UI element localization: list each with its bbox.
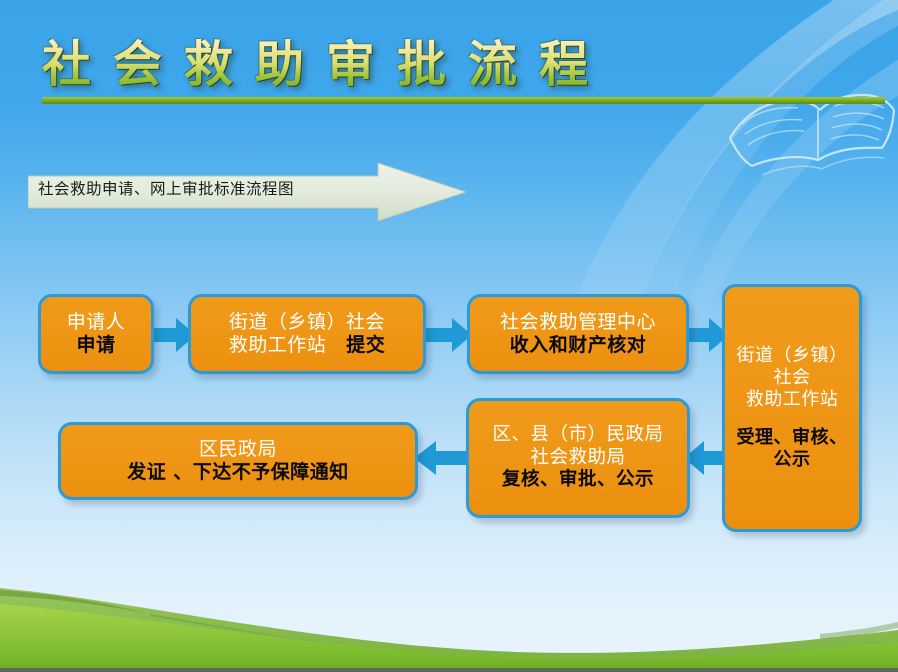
flow-box-district-county-line-2: 社会救助局: [530, 447, 625, 470]
flow-box-station-submit-row-2: 救助工作站 提交: [229, 334, 386, 357]
page-title: 社会救助审批流程: [42, 34, 610, 96]
flow-box-applicant[interactable]: 申请人 申请: [38, 294, 154, 374]
flow-box-applicant-action: 申请: [76, 334, 115, 357]
flow-box-district-civil-affairs[interactable]: 区民政局 发证 、下达不予保障通知: [58, 422, 418, 500]
flow-box-station-review-action-1: 受理、审核、: [737, 427, 848, 449]
flow-box-applicant-line-1: 申请人: [67, 311, 126, 334]
slide-canvas: 社会救助审批流程 社会救助申请、网上审批标准流程图 申请人 申请 街道（乡镇）社: [0, 0, 898, 672]
arrow-district-county-to-district: [414, 441, 470, 475]
flow-box-district-county-action: 复核、审批、公示: [502, 469, 654, 492]
flow-box-district-action: 发证 、下达不予保障通知: [127, 461, 349, 484]
flow-box-relief-center-line-1: 社会救助管理中心: [500, 311, 656, 334]
flow-box-station-submit-line-2: 救助工作站: [229, 334, 327, 357]
flow-box-district-county-civil-affairs[interactable]: 区、县（市）民政局 社会救助局 复核、审批、公示: [466, 398, 690, 518]
flow-box-district-county-line-1: 区、县（市）民政局: [492, 424, 663, 447]
flow-box-station-review-action-2: 公示: [774, 449, 811, 471]
flow-box-district-line-1: 区民政局: [199, 438, 277, 461]
flow-box-station-submit-action: 提交: [346, 334, 385, 357]
flow-box-relief-center-action: 收入和财产核对: [510, 334, 647, 357]
subtitle-text: 社会救助申请、网上审批标准流程图: [38, 177, 294, 199]
grass-hills: [0, 542, 898, 672]
flow-box-relief-center[interactable]: 社会救助管理中心 收入和财产核对: [467, 294, 689, 374]
flow-box-station-submit[interactable]: 街道（乡镇）社会 救助工作站 提交: [188, 294, 426, 374]
flow-box-station-review-line-3: 救助工作站: [746, 389, 839, 411]
title-underline: [42, 97, 885, 104]
swoosh-curves: [575, 0, 898, 330]
open-book-icon: [730, 95, 894, 175]
flow-box-station-submit-line-1: 街道（乡镇）社会: [229, 311, 385, 334]
flow-box-station-review-line-1: 街道（乡镇）: [737, 345, 848, 367]
arrow-station-to-center: [422, 318, 472, 352]
bottom-edge-strip: [0, 668, 898, 672]
flow-box-station-review[interactable]: 街道（乡镇） 社会 救助工作站 受理、审核、 公示: [722, 284, 862, 532]
flow-box-station-review-line-2: 社会: [774, 367, 811, 389]
